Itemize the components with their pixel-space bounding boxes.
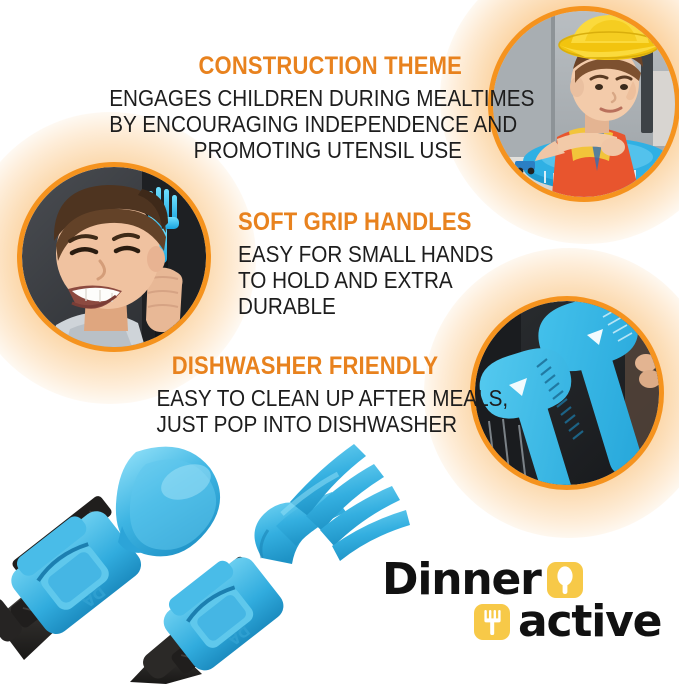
- boy-fork-illustration: [22, 167, 206, 347]
- feature-body-line: EASY TO CLEAN UP AFTER MEALS,: [157, 386, 454, 412]
- fork-icon: [474, 604, 510, 640]
- feature-body-line: TO HOLD AND EXTRA: [238, 268, 463, 294]
- feature-dishwasher-friendly: DISHWASHER FRIENDLY EASY TO CLEAN UP AFT…: [140, 352, 470, 438]
- feature-body: ENGAGES CHILDREN DURING MEALTIMES BY ENC…: [109, 86, 462, 163]
- feature-body-line: EASY FOR SMALL HANDS: [238, 242, 463, 268]
- infographic-canvas: CONSTRUCTION THEME ENGAGES CHILDREN DURI…: [0, 0, 679, 684]
- logo-word-dinner: Dinner: [382, 558, 541, 602]
- feature-body-line: PROMOTING UTENSIL USE: [109, 138, 462, 164]
- feature-body-line: DURABLE: [238, 294, 463, 320]
- feature-construction-theme: CONSTRUCTION THEME ENGAGES CHILDREN DURI…: [70, 52, 462, 163]
- brand-logo: Dinner active: [382, 558, 670, 658]
- spoon-icon-glyph: [547, 562, 583, 598]
- feature-soft-grip-handles: SOFT GRIP HANDLES EASY FOR SMALL HANDS T…: [238, 208, 488, 319]
- fork-icon-glyph: [474, 604, 510, 640]
- logo-row-active: active: [474, 600, 661, 644]
- feature-title: DISHWASHER FRIENDLY: [160, 352, 450, 381]
- feature-body: EASY FOR SMALL HANDS TO HOLD AND EXTRA D…: [238, 242, 463, 319]
- feature-body-line: ENGAGES CHILDREN DURING MEALTIMES: [109, 86, 462, 112]
- feature-title: CONSTRUCTION THEME: [117, 52, 462, 81]
- photo-boy-holding-fork: [17, 162, 211, 352]
- product-photo-spoon-and-fork: DA: [0, 430, 410, 684]
- photo-boy-holding-fork-image: [22, 167, 206, 347]
- spoon-icon: [547, 562, 583, 598]
- spoon-fork-illustration: DA: [0, 430, 410, 684]
- feature-body-line: BY ENCOURAGING INDEPENDENCE AND: [109, 112, 462, 138]
- feature-title: SOFT GRIP HANDLES: [238, 208, 458, 237]
- logo-word-active: active: [518, 600, 661, 644]
